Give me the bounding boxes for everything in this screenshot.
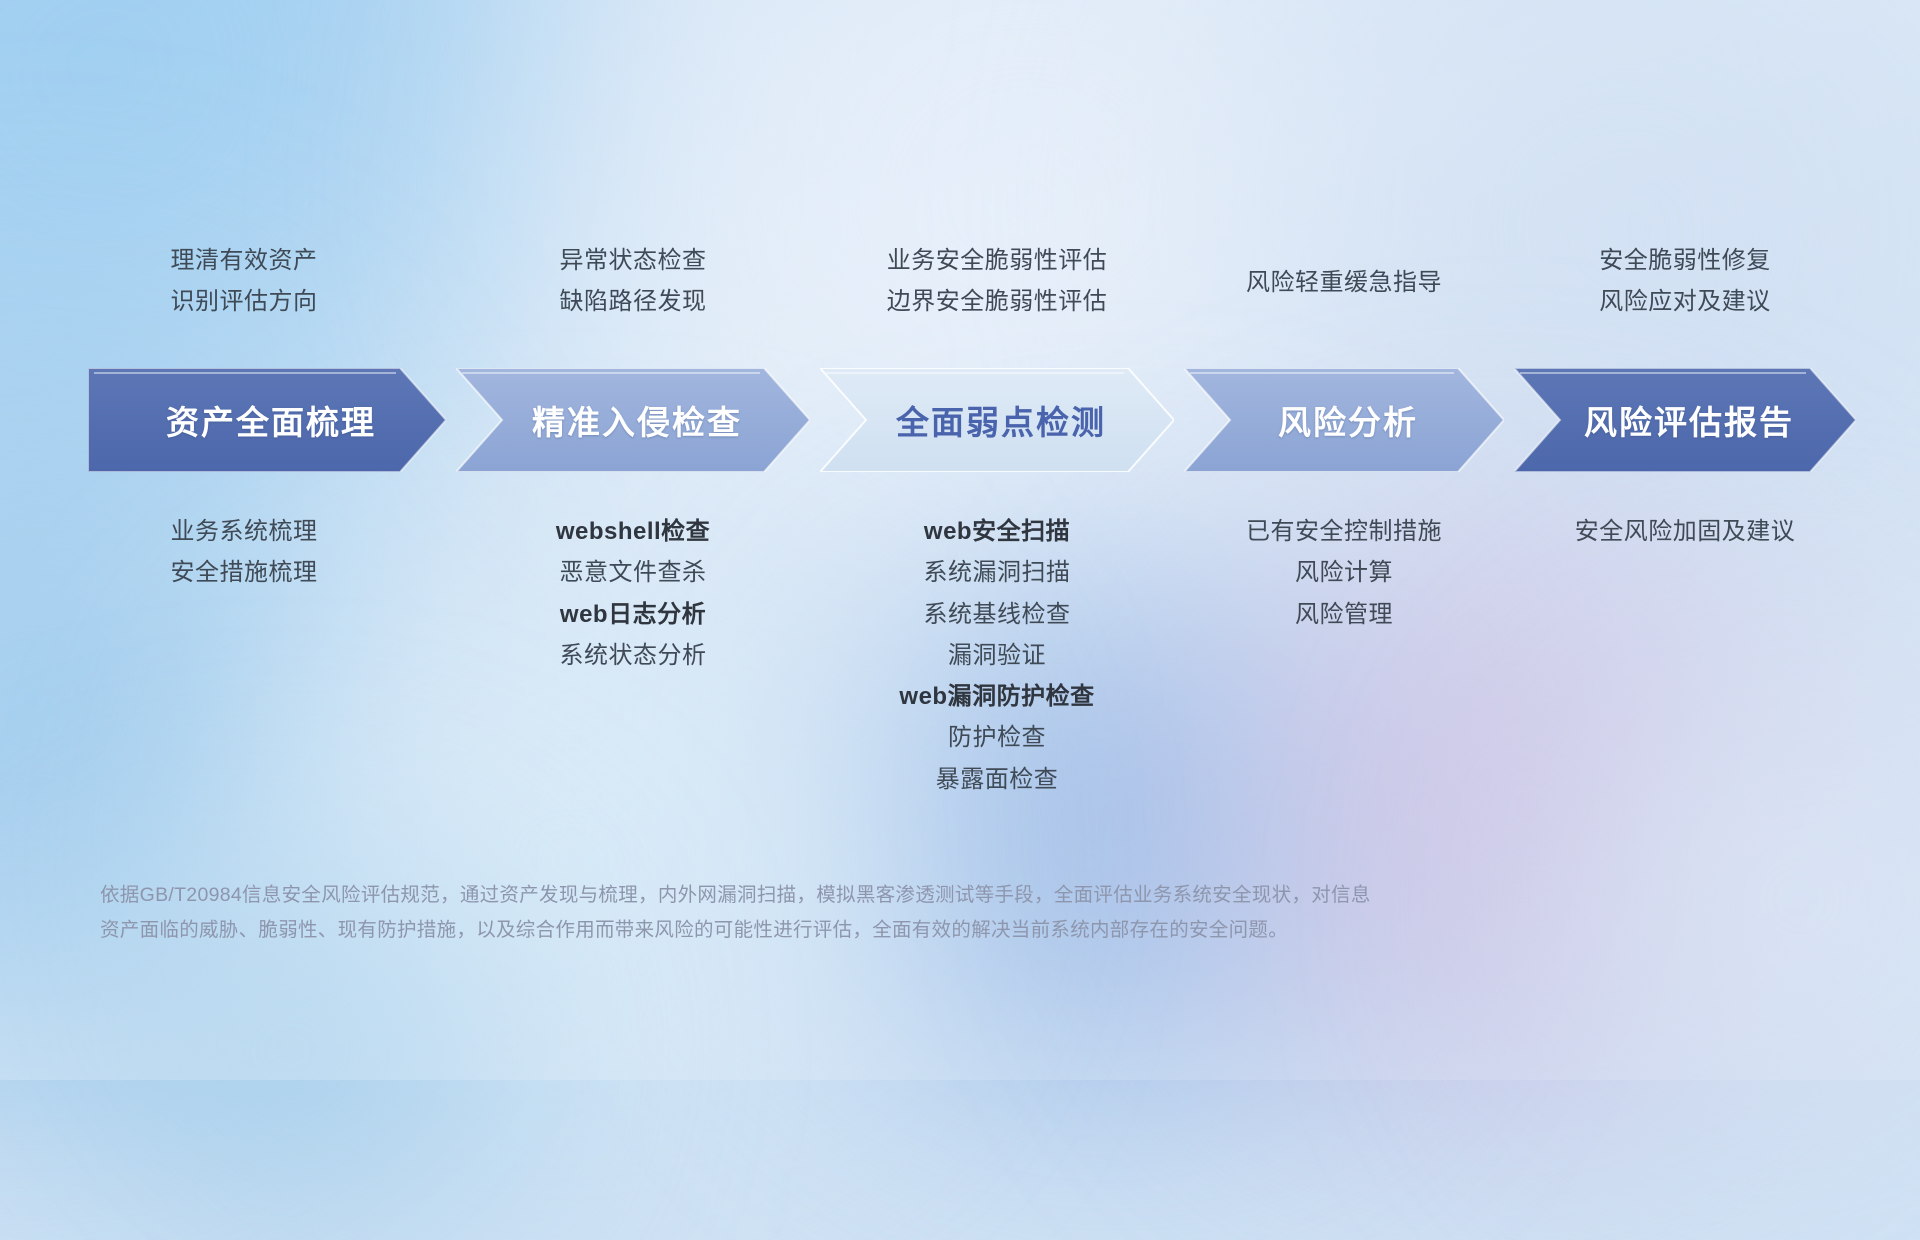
bottom-label-item: 业务系统梳理 [171, 511, 318, 552]
top-label-item: 识别评估方向 [171, 281, 318, 322]
top-label-item: 边界安全脆弱性评估 [887, 281, 1108, 322]
top-label-item: 理清有效资产 [171, 240, 318, 281]
stage-label-risk-report: 风险评估报告 [1576, 396, 1794, 444]
bottom-label-item: web日志分析 [556, 594, 710, 635]
process-stage-risk-report[interactable]: 风险评估报告 [1514, 368, 1856, 472]
top-label-item: 缺陷路径发现 [560, 281, 707, 322]
bottom-label-item: 恶意文件查杀 [556, 552, 710, 593]
bottom-labels-intrusion-check: webshell检查恶意文件查杀web日志分析系统状态分析 [556, 511, 710, 676]
bottom-label-item: 风险管理 [1246, 594, 1442, 635]
bottom-label-item: 安全措施梳理 [171, 552, 318, 593]
bottom-label-item: webshell检查 [556, 511, 710, 552]
bottom-label-item: 风险计算 [1246, 552, 1442, 593]
top-label-item: 风险轻重缓急指导 [1246, 262, 1442, 303]
top-label-item: 风险应对及建议 [1599, 281, 1771, 322]
bottom-label-item: 系统漏洞扫描 [899, 552, 1094, 593]
stage-label-weakness-detection: 全面弱点检测 [888, 396, 1106, 444]
bottom-label-item: 已有安全控制措施 [1246, 511, 1442, 552]
bottom-label-item: 系统基线检查 [899, 594, 1094, 635]
top-label-item: 异常状态检查 [560, 240, 707, 281]
process-stage-weakness-detection[interactable]: 全面弱点检测 [820, 368, 1174, 472]
bottom-label-item: 暴露面检查 [899, 759, 1094, 800]
process-banner: 资产全面梳理精准入侵检查全面弱点检测风险分析风险评估报告 [88, 368, 1856, 472]
top-labels-intrusion-check: 异常状态检查缺陷路径发现 [560, 240, 707, 323]
bottom-label-item: 防护检查 [899, 717, 1094, 758]
footer-line-1: 依据GB/T20984信息安全风险评估规范，通过资产发现与梳理，内外网漏洞扫描，… [100, 878, 1660, 913]
bottom-label-item: 安全风险加固及建议 [1575, 511, 1796, 552]
stage-label-risk-analysis: 风险分析 [1270, 396, 1418, 444]
top-labels-weakness-detection: 业务安全脆弱性评估边界安全脆弱性评估 [887, 240, 1108, 323]
top-labels-risk-analysis: 风险轻重缓急指导 [1246, 262, 1442, 303]
bottom-labels-asset-inventory: 业务系统梳理安全措施梳理 [171, 511, 318, 594]
bottom-labels-weakness-detection: web安全扫描系统漏洞扫描系统基线检查漏洞验证web漏洞防护检查防护检查暴露面检… [899, 511, 1094, 800]
infographic-stage: 理清有效资产识别评估方向异常状态检查缺陷路径发现业务安全脆弱性评估边界安全脆弱性… [0, 0, 1920, 1080]
process-stage-asset-inventory[interactable]: 资产全面梳理 [88, 368, 446, 472]
bottom-labels-risk-report: 安全风险加固及建议 [1575, 511, 1796, 552]
bottom-label-item: 漏洞验证 [899, 635, 1094, 676]
bottom-label-item: 系统状态分析 [556, 635, 710, 676]
process-stage-risk-analysis[interactable]: 风险分析 [1184, 368, 1504, 472]
top-labels-asset-inventory: 理清有效资产识别评估方向 [171, 240, 318, 323]
bottom-labels-risk-analysis: 已有安全控制措施风险计算风险管理 [1246, 511, 1442, 635]
bottom-label-item: web安全扫描 [899, 511, 1094, 552]
top-label-item: 安全脆弱性修复 [1599, 240, 1771, 281]
footer-line-2: 资产面临的威胁、脆弱性、现有防护措施，以及综合作用而带来风险的可能性进行评估，全… [100, 913, 1660, 948]
bottom-label-item: web漏洞防护检查 [899, 676, 1094, 717]
top-labels-risk-report: 安全脆弱性修复风险应对及建议 [1599, 240, 1771, 323]
footer-description: 依据GB/T20984信息安全风险评估规范，通过资产发现与梳理，内外网漏洞扫描，… [100, 878, 1660, 949]
stage-label-intrusion-check: 精准入侵检查 [524, 396, 742, 444]
top-label-item: 业务安全脆弱性评估 [887, 240, 1108, 281]
process-stage-intrusion-check[interactable]: 精准入侵检查 [456, 368, 810, 472]
stage-label-asset-inventory: 资产全面梳理 [158, 396, 376, 444]
